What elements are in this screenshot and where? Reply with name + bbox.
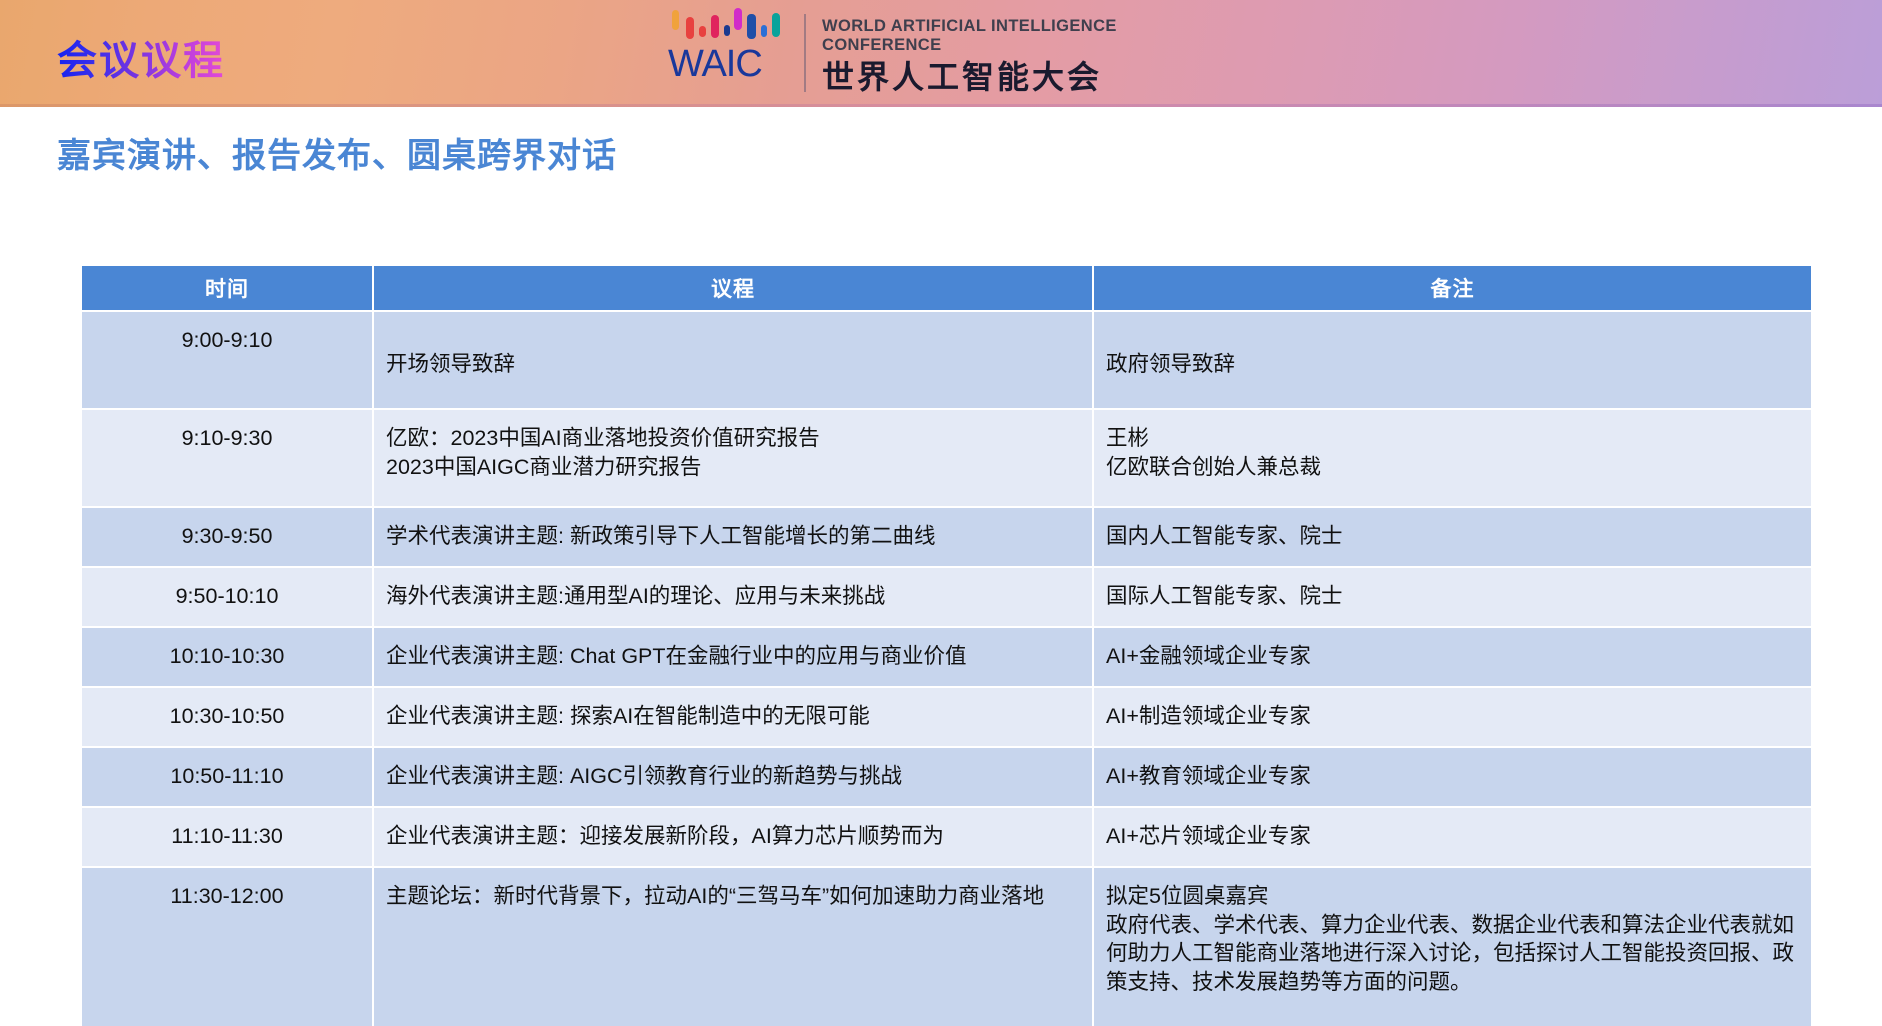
table-row: 9:30-9:50 学术代表演讲主题: 新政策引导下人工智能增长的第二曲线 国内… [82,508,1811,566]
column-header-time: 时间 [82,266,372,310]
cell-item: 企业代表演讲主题: AIGC引领教育行业的新趋势与挑战 [374,748,1092,806]
cell-item: 海外代表演讲主题:通用型AI的理论、应用与未来挑战 [374,568,1092,626]
page-title: 会议议程 [57,28,225,86]
table-header-row: 时间 议程 备注 [82,266,1811,310]
section-heading: 嘉宾演讲、报告发布、圆桌跨界对话 [57,128,617,177]
waic-logo-left: WAIC [668,8,790,84]
cell-notes: AI+制造领域企业专家 [1094,688,1811,746]
logo-divider [804,14,806,92]
cell-time: 9:50-10:10 [82,568,372,626]
cell-item: 学术代表演讲主题: 新政策引导下人工智能增长的第二曲线 [374,508,1092,566]
cell-notes: 拟定5位圆桌嘉宾 政府代表、学术代表、算力企业代表、数据企业代表和算法企业代表就… [1094,868,1811,1026]
cell-time: 11:30-12:00 [82,868,372,1026]
table-row: 10:30-10:50 企业代表演讲主题: 探索AI在智能制造中的无限可能 AI… [82,688,1811,746]
cell-time: 10:10-10:30 [82,628,372,686]
cell-notes: 国际人工智能专家、院士 [1094,568,1811,626]
waic-wordmark: WAIC [668,44,790,84]
table-row: 10:50-11:10 企业代表演讲主题: AIGC引领教育行业的新趋势与挑战 … [82,748,1811,806]
cell-notes: AI+金融领域企业专家 [1094,628,1811,686]
header-band: 会议议程 WAIC WORLD ARTIFICIAL INTELLIGENCE … [0,0,1882,107]
table-row: 10:10-10:30 企业代表演讲主题: Chat GPT在金融行业中的应用与… [82,628,1811,686]
table-row: 9:00-9:10 开场领导致辞 政府领导致辞 [82,312,1811,408]
cell-item: 亿欧：2023中国AI商业落地投资价值研究报告 2023中国AIGC商业潜力研究… [374,410,1092,506]
cell-notes: AI+教育领域企业专家 [1094,748,1811,806]
waic-logo: WAIC WORLD ARTIFICIAL INTELLIGENCE CONFE… [668,8,1117,98]
cell-notes: 国内人工智能专家、院士 [1094,508,1811,566]
cell-time: 9:10-9:30 [82,410,372,506]
column-header-item: 议程 [374,266,1092,310]
logo-english-line-2: CONFERENCE [822,36,1117,55]
cell-notes: 王彬 亿欧联合创始人兼总裁 [1094,410,1811,506]
cell-item: 企业代表演讲主题：迎接发展新阶段，AI算力芯片顺势而为 [374,808,1092,866]
cell-time: 11:10-11:30 [82,808,372,866]
agenda-table: 时间 议程 备注 9:00-9:10 开场领导致辞 政府领导致辞 9:10-9:… [80,264,1813,1026]
cell-item: 企业代表演讲主题: 探索AI在智能制造中的无限可能 [374,688,1092,746]
logo-english-line-1: WORLD ARTIFICIAL INTELLIGENCE [822,17,1117,36]
waic-logo-right: WORLD ARTIFICIAL INTELLIGENCE CONFERENCE… [822,8,1117,95]
logo-chinese-name: 世界人工智能大会 [822,59,1117,95]
table-row: 11:10-11:30 企业代表演讲主题：迎接发展新阶段，AI算力芯片顺势而为 … [82,808,1811,866]
cell-time: 10:50-11:10 [82,748,372,806]
cell-time: 9:00-9:10 [82,312,372,408]
cell-item: 主题论坛：新时代背景下，拉动AI的“三驾马车”如何加速助力商业落地 [374,868,1092,1026]
cell-time: 10:30-10:50 [82,688,372,746]
cell-notes: 政府领导致辞 [1094,312,1811,408]
cell-time: 9:30-9:50 [82,508,372,566]
cell-item: 开场领导致辞 [374,312,1092,408]
column-header-notes: 备注 [1094,266,1811,310]
table-row: 9:10-9:30 亿欧：2023中国AI商业落地投资价值研究报告 2023中国… [82,410,1811,506]
cell-notes: AI+芯片领域企业专家 [1094,808,1811,866]
table-row: 11:30-12:00 主题论坛：新时代背景下，拉动AI的“三驾马车”如何加速助… [82,868,1811,1026]
cell-item: 企业代表演讲主题: Chat GPT在金融行业中的应用与商业价值 [374,628,1092,686]
table-row: 9:50-10:10 海外代表演讲主题:通用型AI的理论、应用与未来挑战 国际人… [82,568,1811,626]
waic-bars-icon [668,8,790,42]
